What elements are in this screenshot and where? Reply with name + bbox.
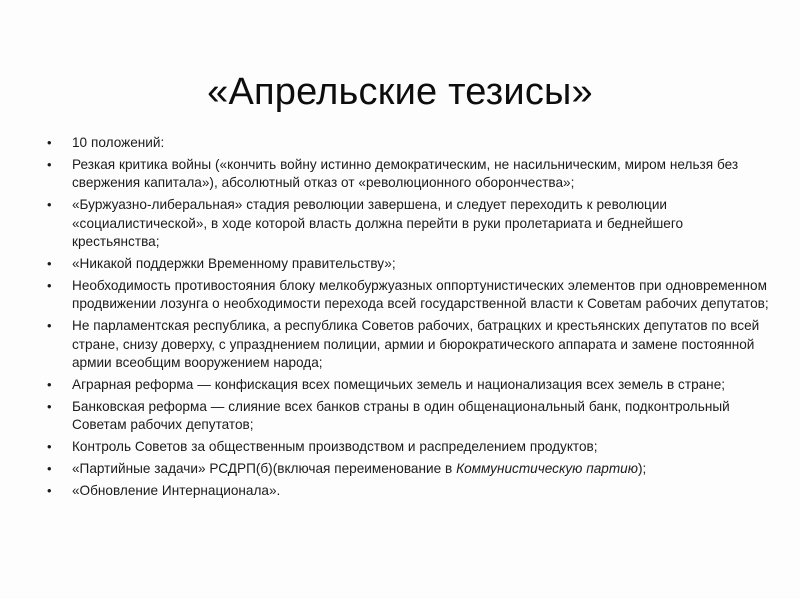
list-item: «Буржуазно-либеральная» стадия революции…: [40, 196, 770, 251]
party-tasks-text-before: «Партийные задачи» РСДРП(б)(включая пере…: [72, 461, 456, 476]
list-item: Необходимость противостояния блоку мелко…: [40, 277, 770, 314]
party-tasks-text-after: );: [638, 461, 646, 476]
list-item: Аграрная реформа — конфискация всех поме…: [40, 376, 770, 394]
list-item: «Обновление Интернационала».: [40, 482, 770, 500]
page-title: «Апрельские тезисы»: [0, 69, 800, 115]
list-item: Не парламентская республика, а республик…: [40, 317, 770, 372]
list-item: Резкая критика войны («кончить войну ист…: [40, 156, 770, 193]
thesis-bullet-list: 10 положений: Резкая критика войны («кон…: [40, 134, 770, 504]
presentation-slide: «Апрельские тезисы» 10 положений: Резкая…: [0, 0, 800, 599]
list-item: Банковская реформа — слияние всех банков…: [40, 398, 770, 435]
list-item: «Никакой поддержки Временному правительс…: [40, 255, 770, 273]
list-item-party-tasks: «Партийные задачи» РСДРП(б)(включая пере…: [40, 460, 770, 478]
list-item: 10 положений:: [40, 134, 770, 152]
list-item: Контроль Советов за общественным произво…: [40, 438, 770, 456]
party-tasks-text-italic: Коммунистическую партию: [456, 461, 638, 476]
